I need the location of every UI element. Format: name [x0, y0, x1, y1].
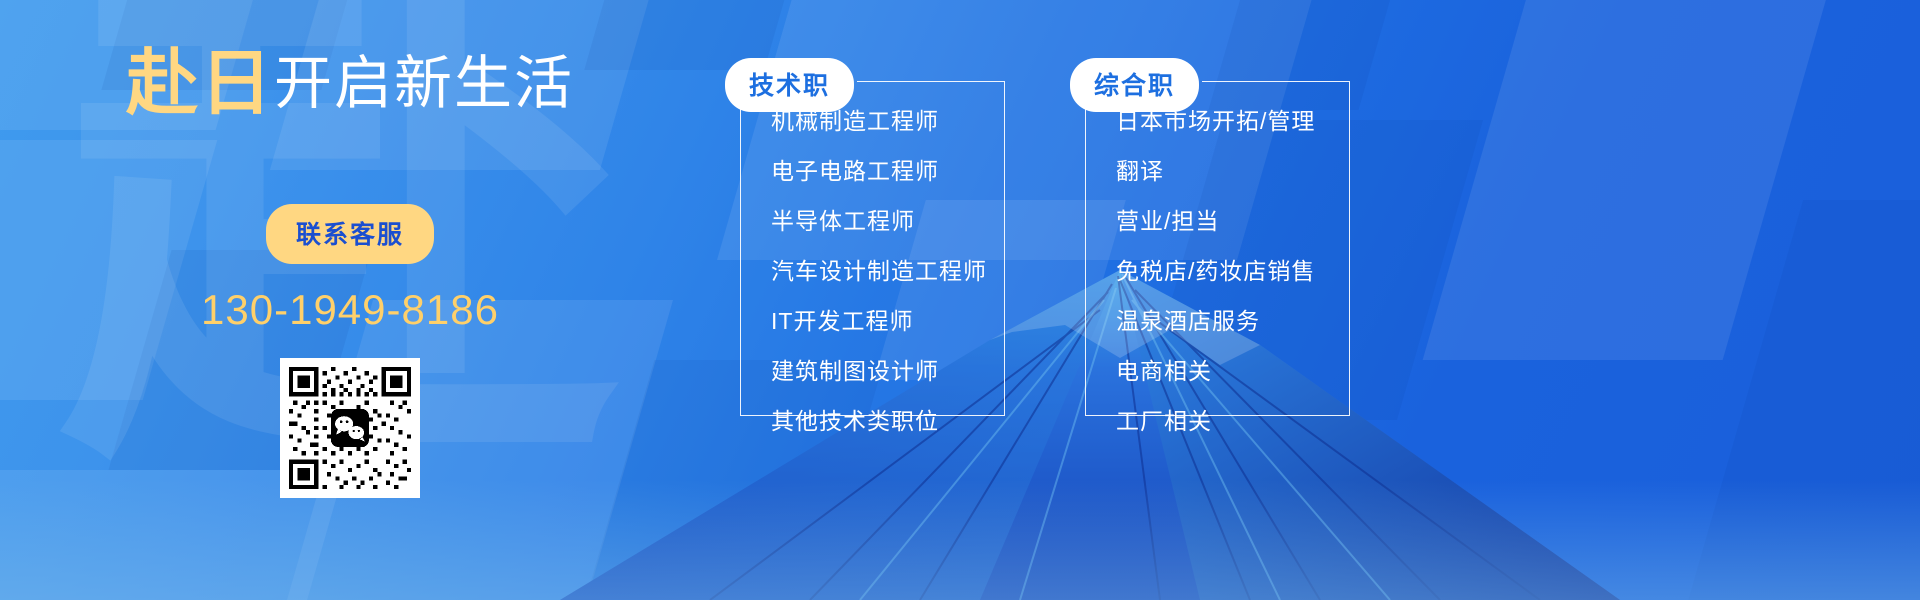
job-item[interactable]: 汽车设计制造工程师 [771, 260, 1004, 283]
wechat-qr-code[interactable] [280, 358, 420, 498]
headline-accent: 赴日 [126, 44, 274, 124]
job-item[interactable]: 电子电路工程师 [771, 160, 1004, 183]
panel-badge-tech: 技术职 [725, 58, 854, 112]
job-item[interactable]: 其他技术类职位 [771, 410, 1004, 433]
job-list-tech: 机械制造工程师 电子电路工程师 半导体工程师 汽车设计制造工程师 IT开发工程师… [771, 110, 1004, 433]
job-item[interactable]: 免税店/药妆店销售 [1116, 260, 1349, 283]
job-item[interactable]: IT开发工程师 [771, 310, 1004, 333]
job-item[interactable]: 翻译 [1116, 160, 1349, 183]
job-item[interactable]: 温泉酒店服务 [1116, 310, 1349, 333]
page-title: 赴日开启新生活 [0, 48, 700, 120]
promo-banner: 赴 [0, 0, 1920, 600]
job-panel-tech: 技术职 机械制造工程师 电子电路工程师 半导体工程师 汽车设计制造工程师 IT开… [740, 82, 1005, 416]
job-item[interactable]: 电商相关 [1116, 360, 1349, 383]
contact-support-button[interactable]: 联系客服 [266, 204, 434, 264]
job-item[interactable]: 日本市场开拓/管理 [1116, 110, 1349, 133]
job-list-general: 日本市场开拓/管理 翻译 营业/担当 免税店/药妆店销售 温泉酒店服务 电商相关… [1116, 110, 1349, 433]
job-panel-general: 综合职 日本市场开拓/管理 翻译 营业/担当 免税店/药妆店销售 温泉酒店服务 … [1085, 82, 1350, 416]
phone-number[interactable]: 130-1949-8186 [0, 286, 700, 334]
job-item[interactable]: 机械制造工程师 [771, 110, 1004, 133]
job-item[interactable]: 工厂相关 [1116, 410, 1349, 433]
job-item[interactable]: 建筑制图设计师 [771, 360, 1004, 383]
job-item[interactable]: 半导体工程师 [771, 210, 1004, 233]
panel-badge-general: 综合职 [1070, 58, 1199, 112]
qr-code-image [289, 367, 411, 489]
headline-main: 开启新生活 [274, 51, 574, 116]
hero-content: 赴日开启新生活 联系客服 130-1949-8186 [0, 0, 700, 600]
job-item[interactable]: 营业/担当 [1116, 210, 1349, 233]
